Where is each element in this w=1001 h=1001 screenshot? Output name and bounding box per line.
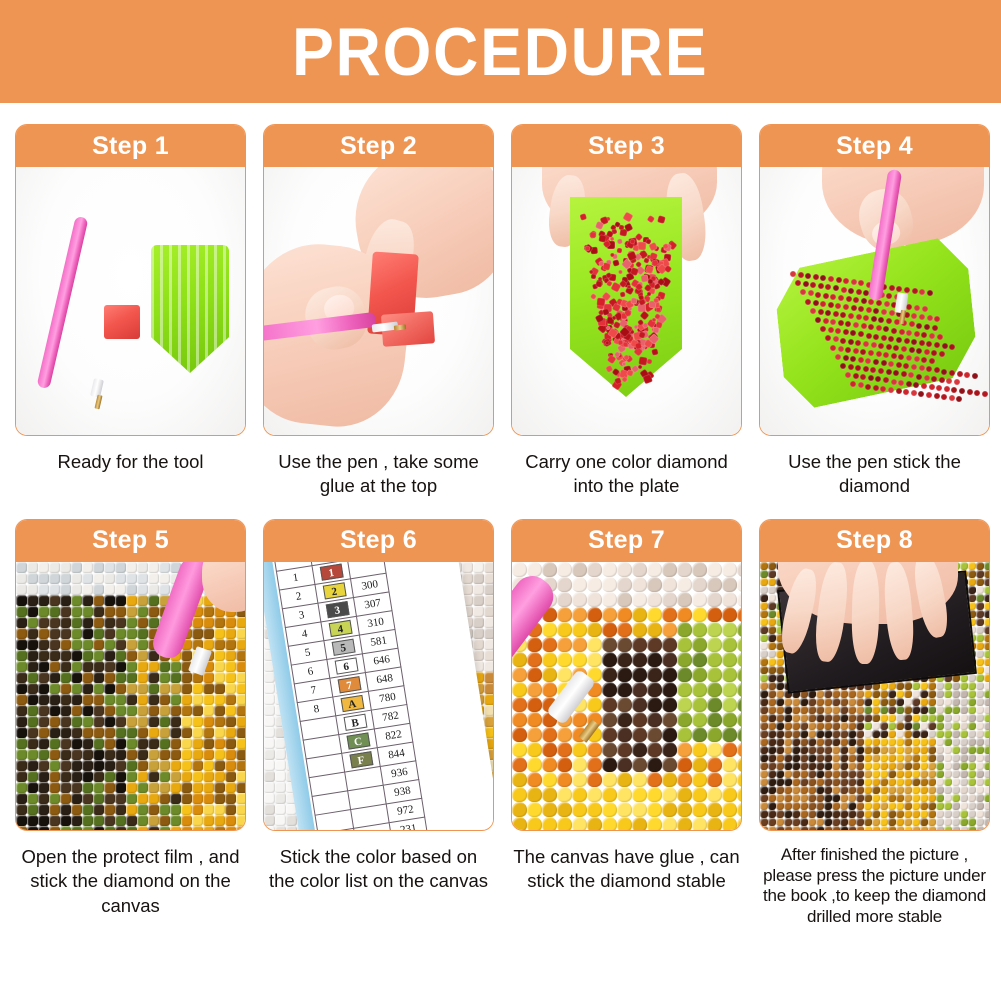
diamond-bead bbox=[115, 727, 126, 738]
diamond-bead bbox=[264, 804, 275, 815]
red-diamond bbox=[858, 280, 864, 286]
diamond-bead bbox=[484, 683, 493, 694]
diamond-bead bbox=[662, 787, 677, 802]
diamond-bead bbox=[16, 815, 27, 826]
chart-symbol-swatch: 7 bbox=[337, 676, 361, 693]
diamond-bead bbox=[912, 818, 920, 826]
diamond-bead bbox=[840, 770, 848, 778]
step-header-5: Step 5 bbox=[16, 520, 245, 562]
step-caption-7: The canvas have glue , can stick the dia… bbox=[511, 845, 742, 894]
diamond-bead bbox=[677, 577, 692, 592]
diamond-bead bbox=[473, 595, 484, 606]
diamond-bead bbox=[776, 730, 784, 738]
diamond-bead bbox=[512, 667, 527, 682]
mosaic-row bbox=[16, 815, 245, 826]
photo-pen-pickup bbox=[760, 167, 989, 435]
red-diamond bbox=[618, 340, 623, 345]
diamond-bead bbox=[159, 584, 170, 595]
diamond-bead bbox=[880, 826, 888, 830]
diamond-bead bbox=[722, 607, 737, 622]
diamond-bead bbox=[880, 698, 888, 706]
step-header-label-8: Step 8 bbox=[836, 526, 913, 555]
red-diamond bbox=[914, 331, 920, 337]
diamond-bead bbox=[824, 762, 832, 770]
red-diamond bbox=[906, 355, 912, 361]
diamond-bead bbox=[484, 716, 493, 727]
diamond-bead bbox=[126, 617, 137, 628]
red-diamond bbox=[921, 383, 927, 389]
diamond-bead bbox=[148, 760, 159, 771]
diamond-bead bbox=[662, 817, 677, 830]
diamond-bead bbox=[928, 746, 936, 754]
red-diamond bbox=[889, 285, 895, 291]
diamond-bead bbox=[60, 606, 71, 617]
chart-symbol-swatch: 6 bbox=[334, 657, 358, 674]
diamond-bead bbox=[904, 754, 912, 762]
diamond-bead bbox=[115, 573, 126, 584]
diamond-bead bbox=[968, 826, 976, 830]
red-diamond bbox=[919, 289, 925, 295]
diamond-bead bbox=[692, 682, 707, 697]
diamond-bead bbox=[60, 584, 71, 595]
step-header-label-4: Step 4 bbox=[836, 132, 913, 161]
diamond-bead bbox=[484, 606, 493, 617]
diamond-bead bbox=[976, 698, 984, 706]
diamond-bead bbox=[692, 697, 707, 712]
diamond-bead bbox=[776, 714, 784, 722]
diamond-bead bbox=[617, 742, 632, 757]
mosaic-row bbox=[512, 562, 741, 577]
red-diamond bbox=[820, 275, 826, 281]
diamond-bead bbox=[617, 772, 632, 787]
photo-color-chart: Serial Symbol DMC 1122300333074431055581… bbox=[264, 562, 493, 830]
diamond-bead bbox=[527, 637, 542, 652]
red-diamond bbox=[942, 343, 948, 349]
diamond-bead bbox=[60, 815, 71, 826]
photo-closeup-diamonds bbox=[512, 562, 741, 830]
diamond-bead bbox=[82, 716, 93, 727]
red-diamond bbox=[622, 212, 633, 223]
diamond-bead bbox=[82, 606, 93, 617]
red-diamond bbox=[643, 257, 649, 263]
diamond-bead bbox=[662, 802, 677, 817]
diamond-bead bbox=[768, 698, 776, 706]
page-title: PROCEDURE bbox=[292, 18, 708, 86]
red-diamond bbox=[858, 331, 864, 337]
diamond-bead bbox=[864, 730, 872, 738]
red-diamond bbox=[805, 299, 811, 305]
diamond-bead bbox=[760, 602, 768, 610]
mosaic-row bbox=[16, 672, 245, 683]
diamond-bead bbox=[225, 716, 236, 727]
mosaic-row bbox=[512, 817, 741, 830]
diamond-bead bbox=[896, 690, 904, 698]
diamond-bead bbox=[848, 794, 856, 802]
diamond-bead bbox=[984, 674, 989, 682]
diamond-bead bbox=[82, 793, 93, 804]
diamond-bead bbox=[952, 786, 960, 794]
diamond-bead bbox=[632, 772, 647, 787]
diamond-bead bbox=[944, 682, 952, 690]
diamond-bead bbox=[872, 818, 880, 826]
diamond-bead bbox=[137, 749, 148, 760]
diamond-bead bbox=[236, 683, 245, 694]
diamond-bead bbox=[840, 714, 848, 722]
diamond-bead bbox=[737, 577, 741, 592]
diamond-bead bbox=[126, 760, 137, 771]
mosaic-row bbox=[16, 771, 245, 782]
chart-symbol-swatch: 4 bbox=[328, 620, 352, 637]
diamond-bead bbox=[952, 810, 960, 818]
diamond-bead bbox=[49, 760, 60, 771]
diamond-bead bbox=[912, 810, 920, 818]
diamond-bead bbox=[617, 577, 632, 592]
diamond-bead bbox=[800, 762, 808, 770]
diamond-bead bbox=[192, 815, 203, 826]
diamond-bead bbox=[912, 746, 920, 754]
diamond-bead bbox=[808, 746, 816, 754]
mosaic-row bbox=[760, 770, 989, 778]
red-diamond bbox=[860, 374, 866, 380]
red-diamond bbox=[914, 356, 920, 362]
diamond-bead bbox=[944, 794, 952, 802]
diamond-bead bbox=[984, 778, 989, 786]
diamond-bead bbox=[984, 786, 989, 794]
diamond-bead bbox=[832, 754, 840, 762]
diamond-bead bbox=[808, 738, 816, 746]
diamond-bead bbox=[760, 698, 768, 706]
diamond-bead bbox=[776, 674, 784, 682]
diamond-bead bbox=[784, 754, 792, 762]
red-diamond bbox=[838, 295, 844, 301]
diamond-bead bbox=[760, 618, 768, 626]
diamond-bead bbox=[936, 690, 944, 698]
diamond-bead bbox=[286, 815, 297, 826]
diamond-bead bbox=[16, 771, 27, 782]
red-diamond bbox=[856, 289, 862, 295]
diamond-bead bbox=[104, 705, 115, 716]
diamond-bead bbox=[203, 672, 214, 683]
red-diamond bbox=[906, 304, 912, 310]
mosaic-row bbox=[512, 712, 741, 727]
procedure-infographic: PROCEDURE Step 1 bbox=[0, 0, 1001, 1001]
diamond-bead bbox=[824, 818, 832, 826]
red-diamond-pile bbox=[512, 167, 741, 435]
diamond-bead bbox=[976, 650, 984, 658]
diamond-bead bbox=[692, 802, 707, 817]
diamond-bead bbox=[677, 607, 692, 622]
diamond-bead bbox=[662, 742, 677, 757]
diamond-bead bbox=[557, 802, 572, 817]
diamond-bead bbox=[275, 804, 286, 815]
diamond-bead bbox=[800, 786, 808, 794]
diamond-bead bbox=[784, 762, 792, 770]
red-diamond bbox=[908, 372, 914, 378]
diamond-bead bbox=[864, 826, 872, 830]
step-cell-6: Step 6 Serial bbox=[263, 519, 494, 928]
diamond-bead bbox=[484, 705, 493, 716]
diamond-bead bbox=[181, 705, 192, 716]
mosaic-row bbox=[760, 722, 989, 730]
diamond-bead bbox=[872, 714, 880, 722]
red-diamond bbox=[883, 352, 889, 358]
red-diamond bbox=[873, 334, 879, 340]
diamond-bead bbox=[49, 694, 60, 705]
diamond-bead bbox=[572, 637, 587, 652]
diamond-bead bbox=[225, 694, 236, 705]
red-diamond bbox=[638, 242, 646, 250]
diamond-bead bbox=[484, 595, 493, 606]
diamond-bead bbox=[768, 794, 776, 802]
red-diamond bbox=[921, 332, 927, 338]
diamond-bead bbox=[587, 787, 602, 802]
diamond-bead bbox=[976, 762, 984, 770]
diamond-bead bbox=[960, 562, 968, 570]
diamond-bead bbox=[920, 738, 928, 746]
diamond-bead bbox=[27, 628, 38, 639]
diamond-bead bbox=[662, 667, 677, 682]
diamond-bead bbox=[976, 770, 984, 778]
diamond-bead bbox=[976, 610, 984, 618]
diamond-bead bbox=[928, 714, 936, 722]
red-diamond bbox=[876, 325, 882, 331]
diamond-bead bbox=[944, 786, 952, 794]
red-diamond bbox=[898, 354, 904, 360]
diamond-bead bbox=[38, 584, 49, 595]
red-diamond bbox=[653, 297, 658, 302]
diamond-bead bbox=[159, 749, 170, 760]
diamond-bead bbox=[737, 562, 741, 577]
diamond-bead bbox=[602, 562, 617, 577]
red-diamond bbox=[901, 371, 907, 377]
diamond-bead bbox=[632, 742, 647, 757]
diamond-bead bbox=[976, 594, 984, 602]
diamond-bead bbox=[936, 762, 944, 770]
diamond-bead bbox=[824, 778, 832, 786]
diamond-bead bbox=[82, 628, 93, 639]
red-diamond bbox=[579, 213, 587, 221]
red-diamond bbox=[840, 363, 846, 369]
diamond-bead bbox=[824, 706, 832, 714]
red-diamond bbox=[848, 313, 854, 319]
red-diamond bbox=[813, 300, 819, 306]
red-diamond bbox=[883, 377, 889, 383]
diamond-bead bbox=[707, 562, 722, 577]
diamond-bead bbox=[677, 727, 692, 742]
diamond-bead bbox=[928, 802, 936, 810]
diamond-bead bbox=[944, 754, 952, 762]
diamond-bead bbox=[984, 810, 989, 818]
diamond-bead bbox=[816, 754, 824, 762]
diamond-bead bbox=[888, 738, 896, 746]
diamond-bead bbox=[944, 746, 952, 754]
diamond-bead bbox=[617, 562, 632, 577]
diamond-bead bbox=[944, 730, 952, 738]
red-diamond bbox=[939, 351, 945, 357]
diamond-bead bbox=[572, 817, 587, 830]
red-diamond bbox=[805, 273, 811, 279]
diamond-bead bbox=[484, 661, 493, 672]
diamond-bead bbox=[71, 584, 82, 595]
diamond-bead bbox=[115, 683, 126, 694]
diamond-bead bbox=[104, 606, 115, 617]
diamond-bead bbox=[824, 690, 832, 698]
diamond-bead bbox=[960, 722, 968, 730]
diamond-bead bbox=[768, 786, 776, 794]
red-diamond bbox=[810, 282, 816, 288]
diamond-bead bbox=[968, 786, 976, 794]
diamond-bead bbox=[632, 637, 647, 652]
diamond-bead bbox=[38, 804, 49, 815]
diamond-bead bbox=[527, 652, 542, 667]
diamond-bead bbox=[104, 595, 115, 606]
diamond-bead bbox=[662, 652, 677, 667]
diamond-bead bbox=[737, 637, 741, 652]
diamond-bead bbox=[737, 697, 741, 712]
diamond-bead bbox=[181, 727, 192, 738]
diamond-bead bbox=[904, 746, 912, 754]
diamond-bead bbox=[60, 782, 71, 793]
diamond-bead bbox=[808, 826, 816, 830]
diamond-bead bbox=[960, 730, 968, 738]
red-diamond bbox=[888, 361, 894, 367]
diamond-bead bbox=[126, 639, 137, 650]
diamond-bead bbox=[968, 698, 976, 706]
diamond-bead bbox=[760, 634, 768, 642]
diamond-bead bbox=[928, 786, 936, 794]
diamond-bead bbox=[82, 760, 93, 771]
diamond-bead bbox=[159, 661, 170, 672]
diamond-bead bbox=[71, 782, 82, 793]
diamond-bead bbox=[192, 683, 203, 694]
diamond-bead bbox=[808, 818, 816, 826]
diamond-bead bbox=[904, 826, 912, 830]
diamond-bead bbox=[912, 738, 920, 746]
diamond-bead bbox=[840, 786, 848, 794]
diamond-bead bbox=[936, 738, 944, 746]
diamond-bead bbox=[148, 804, 159, 815]
diamond-bead bbox=[473, 573, 484, 584]
red-diamond bbox=[846, 296, 852, 302]
diamond-bead bbox=[760, 666, 768, 674]
diamond-bead bbox=[808, 762, 816, 770]
diamond-bead bbox=[760, 802, 768, 810]
diamond-bead bbox=[976, 786, 984, 794]
diamond-bead bbox=[473, 628, 484, 639]
diamond-bead bbox=[936, 722, 944, 730]
diamond-bead bbox=[473, 617, 484, 628]
diamond-bead bbox=[49, 749, 60, 760]
diamond-bead bbox=[816, 762, 824, 770]
diamond-bead bbox=[912, 802, 920, 810]
red-diamond bbox=[896, 286, 902, 292]
red-diamond bbox=[929, 384, 935, 390]
diamond-bead bbox=[928, 722, 936, 730]
diamond-bead bbox=[800, 714, 808, 722]
diamond-bead bbox=[792, 746, 800, 754]
diamond-bead bbox=[944, 826, 952, 830]
red-diamond bbox=[808, 290, 814, 296]
diamond-bead bbox=[776, 794, 784, 802]
diamond-bead bbox=[677, 637, 692, 652]
diamond-bead bbox=[760, 690, 768, 698]
red-diamond bbox=[926, 392, 932, 398]
diamond-bead bbox=[760, 642, 768, 650]
diamond-bead bbox=[768, 674, 776, 682]
diamond-bead bbox=[760, 578, 768, 586]
diamond-bead bbox=[617, 607, 632, 622]
diamond-bead bbox=[832, 690, 840, 698]
mosaic-row bbox=[760, 802, 989, 810]
diamond-bead bbox=[93, 760, 104, 771]
diamond-bead bbox=[170, 672, 181, 683]
diamond-bead bbox=[904, 810, 912, 818]
diamond-bead bbox=[760, 746, 768, 754]
diamond-bead bbox=[225, 683, 236, 694]
diamond-bead bbox=[768, 594, 776, 602]
red-diamond bbox=[896, 337, 902, 343]
diamond-bead bbox=[542, 667, 557, 682]
diamond-bead bbox=[512, 757, 527, 772]
diamond-bead bbox=[82, 826, 93, 830]
diamond-bead bbox=[776, 666, 784, 674]
diamond-bead bbox=[768, 826, 776, 830]
diamond-bead bbox=[104, 617, 115, 628]
diamond-bead bbox=[115, 606, 126, 617]
diamond-bead bbox=[936, 810, 944, 818]
red-diamond bbox=[876, 351, 882, 357]
diamond-bead bbox=[557, 592, 572, 607]
diamond-bead bbox=[104, 793, 115, 804]
diamond-bead bbox=[808, 754, 816, 762]
diamond-bead bbox=[203, 705, 214, 716]
diamond-bead bbox=[236, 782, 245, 793]
step-header-7: Step 7 bbox=[512, 520, 741, 562]
diamond-bead bbox=[71, 760, 82, 771]
diamond-bead bbox=[872, 786, 880, 794]
diamond-bead bbox=[93, 595, 104, 606]
diamond-bead bbox=[984, 618, 989, 626]
diamond-bead bbox=[115, 826, 126, 830]
diamond-bead bbox=[912, 794, 920, 802]
diamond-bead bbox=[776, 826, 784, 830]
red-diamond bbox=[924, 375, 930, 381]
diamond-bead bbox=[557, 562, 572, 577]
diamond-bead bbox=[692, 592, 707, 607]
diamond-bead bbox=[27, 650, 38, 661]
step-cell-1: Step 1 bbox=[15, 124, 246, 499]
diamond-bead bbox=[126, 738, 137, 749]
red-diamond bbox=[870, 367, 876, 373]
red-diamond bbox=[903, 389, 909, 395]
mosaic-row bbox=[760, 818, 989, 826]
diamond-bead bbox=[557, 757, 572, 772]
diamond-bead bbox=[872, 794, 880, 802]
red-diamond bbox=[916, 323, 922, 329]
diamond-bead bbox=[71, 749, 82, 760]
chart-symbol-swatch: 3 bbox=[325, 601, 349, 618]
diamond-bead bbox=[647, 742, 662, 757]
step-header-6: Step 6 bbox=[264, 520, 493, 562]
diamond-bead bbox=[768, 802, 776, 810]
finger-3 bbox=[851, 562, 880, 664]
diamond-bead bbox=[137, 771, 148, 782]
diamond-bead bbox=[692, 727, 707, 742]
diamond-bead bbox=[920, 762, 928, 770]
diamond-bead bbox=[38, 826, 49, 830]
diamond-bead bbox=[602, 652, 617, 667]
diamond-bead bbox=[512, 712, 527, 727]
